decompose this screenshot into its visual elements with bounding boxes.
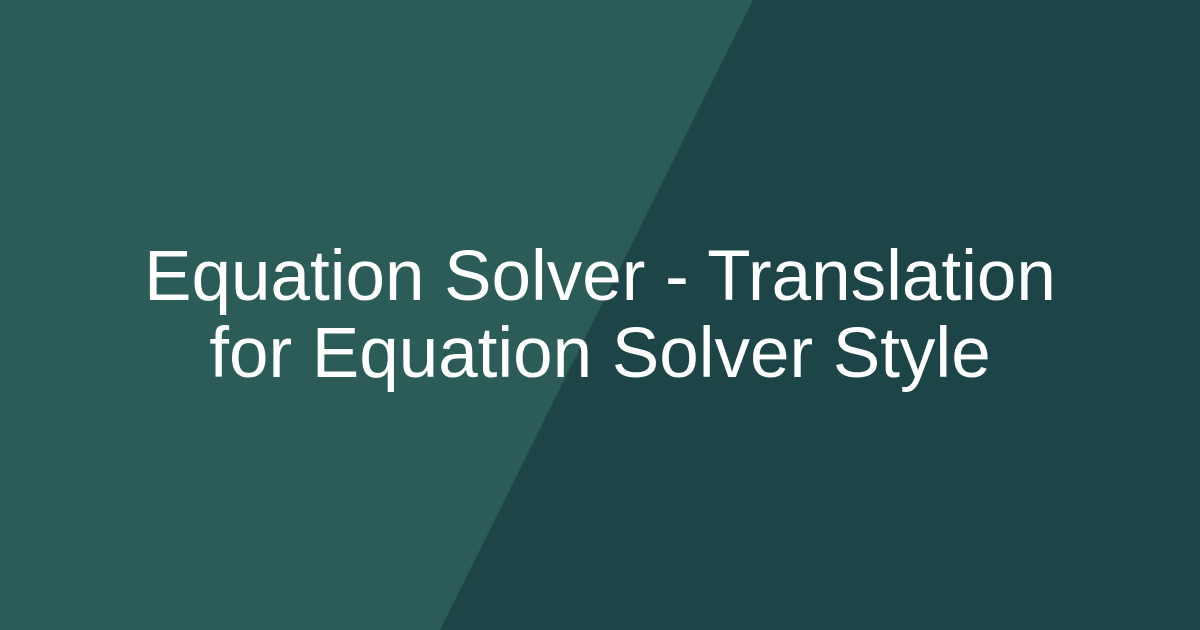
social-preview-card: Equation Solver - Translationfor Equatio… (0, 0, 1200, 630)
page-title-line-1: Equation Solver - Translation (144, 237, 1056, 316)
title-block: Equation Solver - Translationfor Equatio… (0, 0, 1200, 630)
page-title: Equation Solver - Translationfor Equatio… (144, 238, 1056, 392)
page-title-line-2: for Equation Solver Style (209, 314, 990, 393)
